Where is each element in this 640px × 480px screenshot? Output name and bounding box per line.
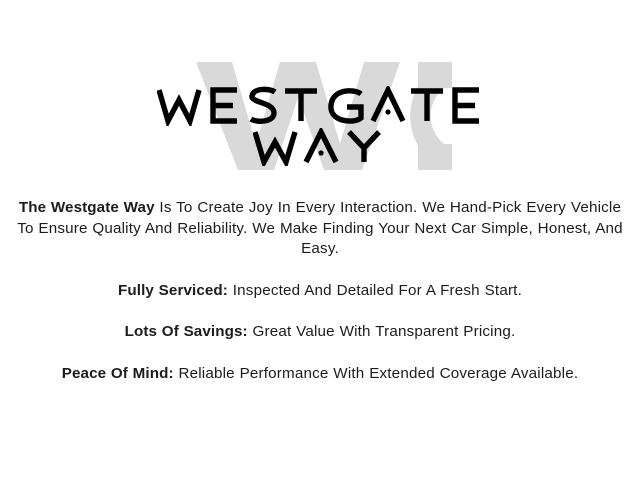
value-prop-fully-serviced-text: Inspected And Detailed For A Fresh Start…	[228, 282, 522, 299]
value-prop-lots-of-savings: Lots Of Savings: Great Value With Transp…	[14, 322, 626, 343]
value-prop-fully-serviced-lead: Fully Serviced:	[118, 282, 228, 299]
dealer-value-props: The Westgate Way Is To Create Joy In Eve…	[14, 198, 626, 384]
brand-logo-block	[0, 48, 640, 188]
value-prop-peace-of-mind: Peace Of Mind: Reliable Performance With…	[14, 364, 626, 385]
value-prop-intro: The Westgate Way Is To Create Joy In Eve…	[14, 198, 626, 260]
westgate-lettering	[157, 86, 483, 126]
way-lettering	[253, 128, 387, 166]
value-prop-lots-of-savings-text: Great Value With Transparent Pricing.	[248, 323, 516, 340]
value-prop-lots-of-savings-lead: Lots Of Savings:	[125, 323, 248, 340]
dealer-info-panel: The Westgate Way Is To Create Joy In Eve…	[0, 0, 640, 480]
value-prop-fully-serviced: Fully Serviced: Inspected And Detailed F…	[14, 281, 626, 302]
value-prop-peace-of-mind-lead: Peace Of Mind:	[62, 365, 174, 382]
value-prop-peace-of-mind-text: Reliable Performance With Extended Cover…	[174, 365, 579, 382]
brand-wordmark	[0, 48, 640, 188]
brand-wordmark-line-way	[0, 128, 640, 168]
brand-wordmark-line-westgate	[0, 86, 640, 128]
value-prop-intro-lead: The Westgate Way	[19, 199, 155, 216]
